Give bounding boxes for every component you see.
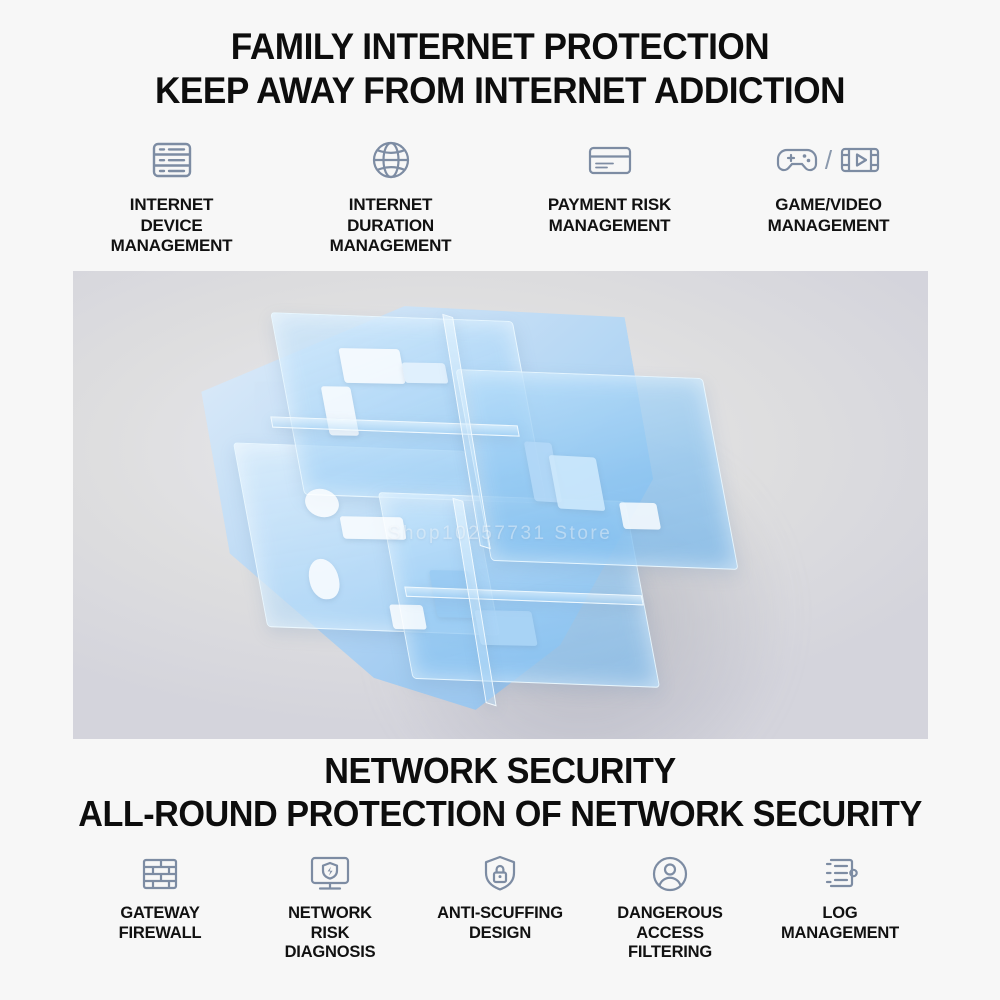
headline-bottom-line2: ALL-ROUND PROTECTION OF NETWORK SECURITY: [25, 794, 975, 834]
feature-dangerous-access-filtering: DANGEROUS ACCESS FILTERING: [585, 851, 755, 963]
feature-label: LOG MANAGEMENT: [781, 904, 899, 944]
monitor-shield-icon: [307, 851, 353, 897]
feature-label: GATEWAY FIREWALL: [119, 904, 202, 944]
video-film-icon: [838, 140, 882, 180]
feature-internet-device-management: INTERNET DEVICE MANAGEMENT: [62, 134, 281, 257]
feature-label: INTERNET DURATION MANAGEMENT: [330, 195, 452, 257]
headline-top-line2: KEEP AWAY FROM INTERNET ADDICTION: [25, 70, 975, 111]
feature-label: DANGEROUS ACCESS FILTERING: [617, 904, 722, 963]
brick-firewall-icon: [139, 851, 181, 897]
feature-row-top: INTERNET DEVICE MANAGEMENT INTERNET DURA…: [30, 134, 970, 257]
feature-internet-duration-management: INTERNET DURATION MANAGEMENT: [281, 134, 500, 257]
feature-label: NETWORK RISK DIAGNOSIS: [285, 904, 376, 963]
page-title-top: FAMILY INTERNET PROTECTION KEEP AWAY FRO…: [25, 26, 975, 112]
product-photo: Shop10257731 Store: [73, 271, 928, 739]
furniture-item: [339, 516, 406, 540]
furniture-item: [618, 502, 660, 529]
headline-bottom-line1: NETWORK SECURITY: [25, 751, 975, 791]
page-title-bottom: NETWORK SECURITY ALL-ROUND PROTECTION OF…: [25, 751, 975, 835]
feature-row-bottom: GATEWAY FIREWALL NETWORK RISK DIAGNOSIS: [30, 851, 970, 963]
furniture-item: [338, 348, 405, 384]
feature-network-risk-diagnosis: NETWORK RISK DIAGNOSIS: [245, 851, 415, 963]
gamepad-icon: [775, 140, 819, 180]
credit-card-icon: [585, 134, 635, 186]
feature-label: ANTI-SCUFFING DESIGN: [437, 904, 563, 944]
log-document-icon: [818, 851, 862, 897]
feature-label: GAME/VIDEO MANAGEMENT: [768, 195, 890, 236]
feature-label: PAYMENT RISK MANAGEMENT: [548, 195, 671, 236]
shield-lock-icon: [479, 851, 521, 897]
feature-anti-scuffing-design: ANTI-SCUFFING DESIGN: [415, 851, 585, 944]
gamepad-video-icon: /: [775, 134, 882, 186]
feature-gateway-firewall: GATEWAY FIREWALL: [75, 851, 245, 944]
icon-separator-slash: /: [825, 147, 832, 173]
server-list-icon: [149, 134, 195, 186]
furniture-item: [389, 605, 427, 630]
globe-icon: [368, 134, 414, 186]
product-marketing-page: FAMILY INTERNET PROTECTION KEEP AWAY FRO…: [0, 0, 1000, 1000]
feature-payment-risk-management: PAYMENT RISK MANAGEMENT: [500, 134, 719, 236]
product-photo-scene: Shop10257731 Store: [73, 271, 928, 739]
furniture-item: [401, 362, 448, 383]
user-circle-icon: [649, 851, 691, 897]
feature-game-video-management: / GAME/VIDEO MANAGEMENT: [719, 134, 938, 236]
feature-label: INTERNET DEVICE MANAGEMENT: [111, 195, 233, 257]
feature-log-management: LOG MANAGEMENT: [755, 851, 925, 944]
headline-top-line1: FAMILY INTERNET PROTECTION: [25, 26, 975, 67]
furniture-item: [548, 455, 605, 511]
